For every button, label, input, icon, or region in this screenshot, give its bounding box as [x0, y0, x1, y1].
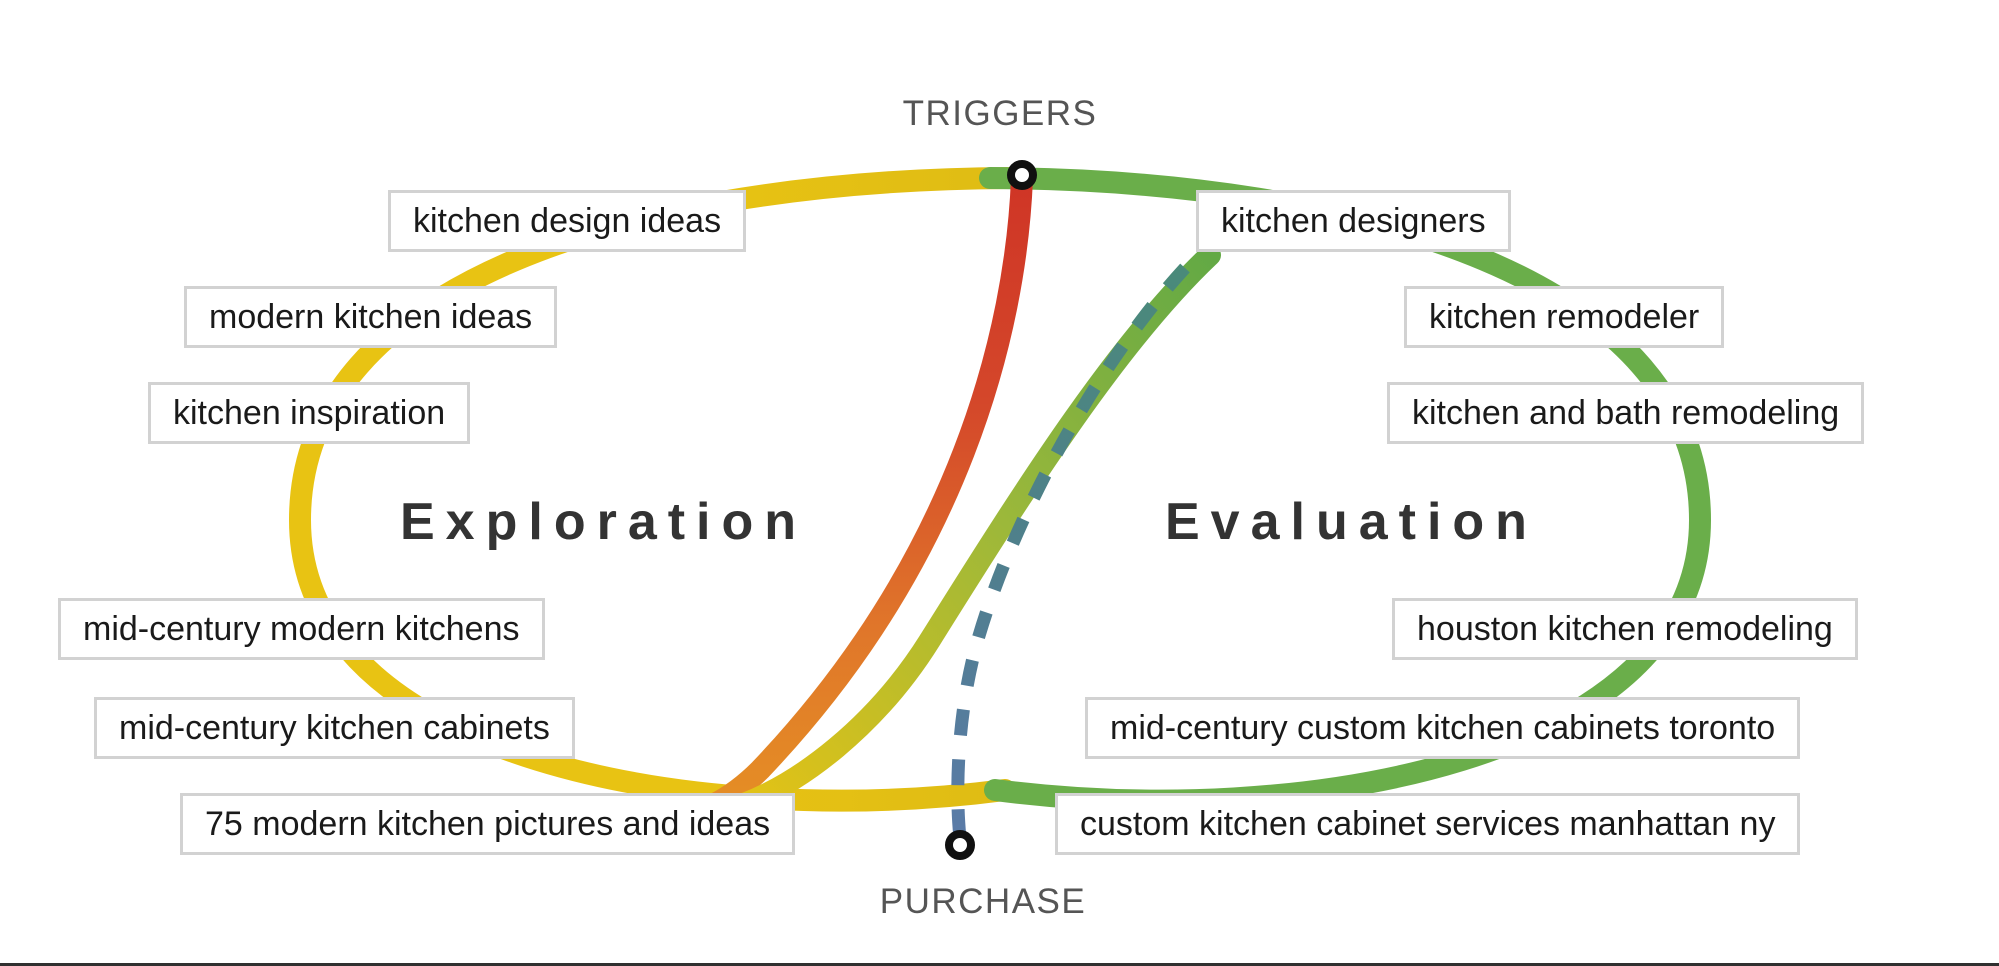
query-chip-right-5[interactable]: mid-century custom kitchen cabinets toro… [1085, 697, 1800, 759]
query-chip-right-2[interactable]: kitchen remodeler [1404, 286, 1724, 348]
triggers-caption: TRIGGERS [903, 94, 1098, 134]
query-chip-left-4[interactable]: mid-century modern kitchens [58, 598, 545, 660]
query-chip-left-5[interactable]: mid-century kitchen cabinets [94, 697, 575, 759]
purchase-node-icon [945, 830, 975, 860]
query-chip-right-4[interactable]: houston kitchen remodeling [1392, 598, 1858, 660]
phase-title-exploration: Exploration [400, 492, 807, 552]
messy-middle-diagram: TRIGGERS PURCHASE Exploration Evaluation… [0, 0, 1999, 966]
query-chip-right-6[interactable]: custom kitchen cabinet services manhatta… [1055, 793, 1800, 855]
query-chip-left-3[interactable]: kitchen inspiration [148, 382, 470, 444]
query-chip-right-3[interactable]: kitchen and bath remodeling [1387, 382, 1864, 444]
triggers-node-icon [1007, 160, 1037, 190]
query-chip-left-2[interactable]: modern kitchen ideas [184, 286, 557, 348]
query-chip-left-6[interactable]: 75 modern kitchen pictures and ideas [180, 793, 795, 855]
query-chip-left-1[interactable]: kitchen design ideas [388, 190, 746, 252]
phase-title-evaluation: Evaluation [1165, 492, 1538, 552]
query-chip-right-1[interactable]: kitchen designers [1196, 190, 1511, 252]
purchase-caption: PURCHASE [880, 882, 1086, 922]
